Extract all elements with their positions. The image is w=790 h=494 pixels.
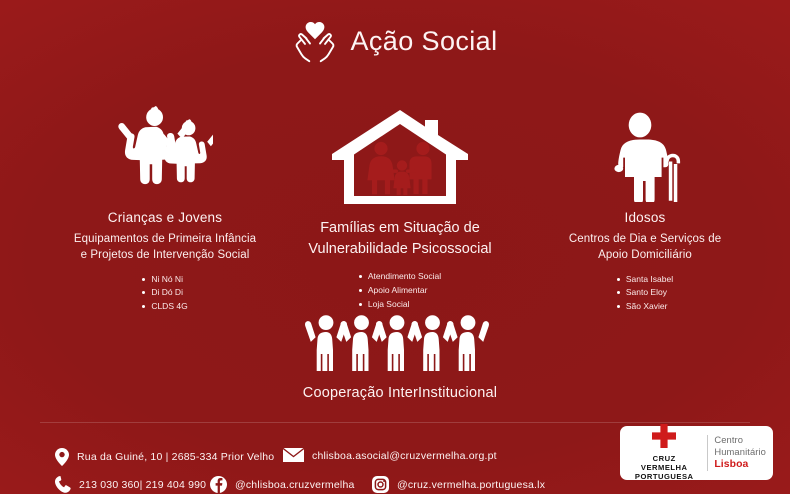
section-children-title: Crianças e Jovens: [25, 210, 305, 225]
logo-divider: [707, 435, 708, 471]
section-cooperation: Cooperação InterInstitucional: [245, 312, 555, 401]
list-item: Atendimento Social: [359, 270, 441, 284]
list-item: Loja Social: [359, 298, 441, 312]
heart-in-hands-icon: [293, 18, 337, 64]
contact-email[interactable]: chlisboa.asocial@cruzvermelha.org.pt: [283, 448, 497, 463]
list-item: Santa Isabel: [617, 273, 673, 287]
red-cross-icon: [651, 424, 677, 454]
section-families: Famílias em Situação de Vulnerabilidade …: [270, 108, 530, 312]
list-item: Di Dó Di: [142, 286, 187, 300]
contact-email-text: chlisboa.asocial@cruzvermelha.org.pt: [312, 450, 497, 462]
poster-canvas: Ação Social: [0, 0, 790, 494]
house-with-family-icon: [270, 108, 530, 206]
instagram-icon: [372, 476, 389, 493]
logo-line-3: PORTUGUESA: [635, 473, 694, 482]
footer-divider: [40, 422, 750, 423]
logo-right-line-1: Centro: [714, 434, 766, 446]
group-of-people-raised-arms-icon: [245, 312, 555, 374]
contact-phone: 213 030 360| 219 404 990: [55, 476, 206, 493]
two-children-raised-arms-icon: [25, 104, 305, 196]
facebook-icon: [210, 476, 227, 493]
envelope-icon: [283, 448, 304, 463]
contact-phone-text: 213 030 360| 219 404 990: [79, 479, 206, 491]
page-header: Ação Social: [0, 18, 790, 64]
list-item: Apoio Alimentar: [359, 284, 441, 298]
section-cooperation-label: Cooperação InterInstitucional: [245, 385, 555, 401]
page-title: Ação Social: [351, 26, 498, 57]
contact-instagram-text: @cruz.vermelha.portuguesa.lx: [397, 479, 545, 491]
list-item: Ni Nó Ni: [142, 273, 187, 287]
section-elderly-subtitle: Centros de Dia e Serviços de Apoio Domic…: [515, 232, 775, 264]
logo-right-line-2: Humanitário: [714, 446, 766, 458]
logo-centro-humanitario: Centro Humanitário Lisboa: [714, 434, 766, 471]
logo-city: Lisboa: [714, 458, 766, 471]
contact-facebook[interactable]: @chlisboa.cruzvermelha: [210, 476, 355, 493]
section-children-bullets: Ni Nó Ni Di Dó Di CLDS 4G: [142, 273, 187, 314]
map-pin-icon: [55, 448, 69, 466]
contact-facebook-text: @chlisboa.cruzvermelha: [235, 479, 355, 491]
phone-icon: [55, 476, 71, 493]
list-item: CLDS 4G: [142, 300, 187, 314]
section-families-bullets: Atendimento Social Apoio Alimentar Loja …: [359, 270, 441, 311]
elderly-person-with-cane-icon: [515, 110, 775, 202]
organization-logo: CRUZ VERMELHA PORTUGUESA Centro Humanitá…: [620, 426, 773, 480]
logo-cruz-vermelha-portuguesa: CRUZ VERMELHA PORTUGUESA: [627, 424, 701, 482]
contact-address: Rua da Guiné, 10 | 2685-334 Prior Velho: [55, 448, 274, 466]
section-elderly: Idosos Centros de Dia e Serviços de Apoi…: [515, 110, 775, 314]
section-children-subtitle: Equipamentos de Primeira Infância e Proj…: [25, 232, 305, 264]
section-elderly-bullets: Santa Isabel Santo Eloy São Xavier: [617, 273, 673, 314]
section-children-and-youth: Crianças e Jovens Equipamentos de Primei…: [25, 104, 305, 314]
contact-instagram[interactable]: @cruz.vermelha.portuguesa.lx: [372, 476, 545, 493]
section-elderly-title: Idosos: [515, 210, 775, 225]
section-families-title: Famílias em Situação de Vulnerabilidade …: [270, 218, 530, 259]
list-item: Santo Eloy: [617, 286, 673, 300]
footer-contact-bar: Rua da Guiné, 10 | 2685-334 Prior Velho …: [0, 422, 790, 494]
list-item: São Xavier: [617, 300, 673, 314]
contact-address-text: Rua da Guiné, 10 | 2685-334 Prior Velho: [77, 451, 274, 463]
